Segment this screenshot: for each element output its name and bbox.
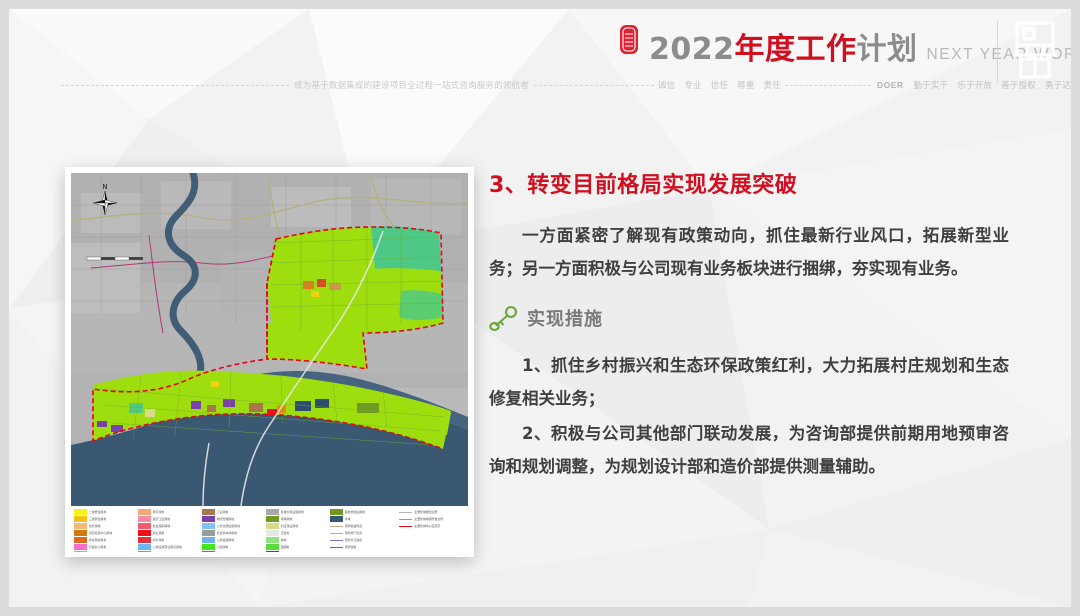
legend-swatch <box>202 516 215 521</box>
legend-swatch <box>202 551 215 552</box>
legend-swatch <box>74 530 87 535</box>
legend-label: 社会福利用地 <box>153 523 170 529</box>
legend-label: 现状铁路 <box>345 544 357 550</box>
legend-label: 主要新城规划边界 <box>414 509 437 515</box>
legend-label: 医疗卫生用地 <box>153 516 170 522</box>
measure-item: 2、积极与公司其他部门联动发展，为咨询部提供前期用地预审咨询和规划调整，为规划设… <box>489 417 1009 483</box>
legend-swatch <box>138 530 151 535</box>
value-item: 专业 <box>684 79 701 91</box>
legend-item: 苗圃地 <box>266 544 327 550</box>
legend-item: 社会福利用地 <box>138 523 199 529</box>
legend-label: 公用设施用地 <box>217 537 234 543</box>
legend-label: 现状燃气管道 <box>345 530 362 536</box>
legend-label: 幼托用地 <box>89 523 101 529</box>
legend-item: 主要新城规划边界 <box>399 509 466 515</box>
value-item: 信任 <box>711 79 728 91</box>
legend-swatch <box>266 516 279 521</box>
legend-swatch <box>138 551 151 552</box>
legend-item: 特殊用地 <box>266 516 327 522</box>
legend-swatch <box>74 509 87 514</box>
map-legend: 二类居住用地三类居住用地幼托用地基层社区中心用地商住混合用地行政办公用地文化设施… <box>71 506 468 552</box>
red-seal-stamp-icon <box>617 23 641 57</box>
legend-column: 工业用地物流仓储用地公共交通设施用地社会停车场用地公用设施用地公园绿地防护绿地 <box>202 509 263 552</box>
legend-label: 商务用地 <box>153 537 165 543</box>
legend-swatch <box>138 509 151 514</box>
content-column: 3、转变目前格局实现发展突破 一方面紧密了解现有政策动向，抓住最新行业风口，拓展… <box>489 169 1009 483</box>
legend-swatch <box>330 533 343 534</box>
legend-item: 基层社区中心用地 <box>74 530 135 536</box>
value-item: 诚信 <box>658 79 675 91</box>
legend-column: 其他非建设用地水域现状输油管道现状燃气管道现状长江堤坝现状铁路现状道路 <box>330 509 397 552</box>
legend-item: 物流仓储用地 <box>202 516 263 522</box>
doer-value-item: 乐于开放 <box>957 79 992 91</box>
measures-header: 实现措施 <box>489 305 1009 331</box>
legend-label: 工业用地 <box>217 509 229 515</box>
doer-label: DOER <box>871 80 910 90</box>
legend-label: 田野绿地 <box>281 551 293 552</box>
legend-swatch <box>399 526 412 527</box>
legend-item: 防护绿地 <box>202 551 263 552</box>
value-item: 尊重 <box>737 79 754 91</box>
legend-swatch <box>266 551 279 552</box>
dash-line-mid2 <box>785 85 871 86</box>
legend-item: 文化设施用地 <box>74 551 135 552</box>
section-heading: 3、转变目前格局实现发展突破 <box>489 169 1009 203</box>
legend-swatch <box>330 516 343 521</box>
legend-swatch <box>74 551 87 552</box>
legend-item: 区域交通设施用地 <box>266 509 327 515</box>
legend-label: 特殊用地 <box>281 516 293 522</box>
legend-swatch <box>202 530 215 535</box>
legend-swatch <box>202 523 215 528</box>
legend-item: 水域 <box>330 516 397 522</box>
doer-values-list: 勤于实干 乐于开放 善于授权 勇于达成 <box>910 79 1072 91</box>
legend-item: 主要新城中心区范围 <box>399 523 466 529</box>
legend-item: 主要新城城镇开发边界 <box>399 516 466 522</box>
legend-item: 村庄建设用地 <box>266 523 327 529</box>
legend-swatch <box>399 519 412 520</box>
value-item: 责任 <box>764 79 781 91</box>
legend-label: 公园绿地 <box>217 544 229 550</box>
legend-label: 现状道路 <box>345 551 357 552</box>
legend-item: 教育用地 <box>138 509 199 515</box>
legend-label: 社会停车场用地 <box>217 530 237 536</box>
legend-swatch <box>266 509 279 514</box>
legend-label: 其他非建设用地 <box>345 509 365 515</box>
header-title-block: 2022年度工作计划 NEXT YEAR WORK PLAN <box>649 24 1071 68</box>
legend-item: 工业用地 <box>202 509 263 515</box>
legend-item: 公共交通设施用地 <box>202 523 263 529</box>
legend-item: 其他非建设用地 <box>330 509 397 515</box>
legend-item: 空置地 <box>266 530 327 536</box>
map-graphic: N <box>71 173 468 506</box>
legend-item: 现状燃气管道 <box>330 530 397 536</box>
legend-item: 医疗卫生用地 <box>138 516 199 522</box>
header-subtitle-row: 成为基于数据集成的建设项目全过程一站式咨询服务的领航者 诚信 专业 信任 尊重 … <box>9 75 1071 95</box>
slide-canvas: 2022年度工作计划 NEXT YEAR WORK PLAN 成为基于数据集成的… <box>9 9 1071 607</box>
legend-label: 主要新城中心区范围 <box>414 523 440 529</box>
legend-item: 商务用地 <box>138 537 199 543</box>
legend-swatch <box>138 516 151 521</box>
legend-label: 教育用地 <box>153 509 165 515</box>
legend-item: 公园绿地 <box>202 544 263 550</box>
legend-item: 现状输油管道 <box>330 523 397 529</box>
dingzheng-logo-icon <box>1009 19 1061 81</box>
legend-column: 教育用地医疗卫生用地社会福利用地商业用地商务用地公用设施营业网点用地其他服务设施… <box>138 509 199 552</box>
legend-item: 林地 <box>266 537 327 543</box>
legend-label: 行政办公用地 <box>89 544 106 550</box>
legend-swatch <box>74 544 87 549</box>
body-paragraph: 一方面紧密了解现有政策动向，抓住最新行业风口，拓展新型业务；另一方面积极与公司现… <box>489 219 1009 285</box>
legend-item: 其他服务设施用地 <box>138 551 199 552</box>
legend-item: 现状长江堤坝 <box>330 537 397 543</box>
legend-label: 防护绿地 <box>217 551 229 552</box>
measures-label: 实现措施 <box>527 305 603 331</box>
legend-item: 商业用地 <box>138 530 199 536</box>
title-cn-primary: 年度工作 <box>735 32 857 67</box>
legend-swatch <box>202 509 215 514</box>
legend-item: 公用设施用地 <box>202 537 263 543</box>
doer-value-item: 勇于达成 <box>1045 79 1071 91</box>
legend-item: 二类居住用地 <box>74 509 135 515</box>
legend-swatch <box>138 537 151 542</box>
legend-item: 三类居住用地 <box>74 516 135 522</box>
map-card: N <box>65 167 474 557</box>
legend-item: 现状道路 <box>330 551 397 552</box>
doer-value-item: 善于授权 <box>1001 79 1036 91</box>
legend-label: 区域交通设施用地 <box>281 509 304 515</box>
legend-label: 村庄建设用地 <box>281 523 298 529</box>
legend-label: 物流仓储用地 <box>217 516 234 522</box>
land-use-planning-map: N <box>71 173 468 506</box>
slide-header: 2022年度工作计划 NEXT YEAR WORK PLAN 成为基于数据集成的… <box>9 9 1071 97</box>
key-icon <box>489 305 519 331</box>
company-slogan: 成为基于数据集成的建设项目全过程一站式咨询服务的领航者 <box>289 79 534 91</box>
legend-swatch <box>74 516 87 521</box>
legend-item: 商住混合用地 <box>74 537 135 543</box>
legend-item: 田野绿地 <box>266 551 327 552</box>
legend-label: 现状输油管道 <box>345 523 362 529</box>
legend-swatch <box>138 544 151 549</box>
doer-value-item: 勤于实干 <box>914 79 949 91</box>
legend-swatch <box>202 544 215 549</box>
legend-item: 社会停车场用地 <box>202 530 263 536</box>
legend-label: 商业用地 <box>153 530 165 536</box>
measures-list: 1、抓住乡村振兴和生态环保政策红利，大力拓展村庄规划和生态修复相关业务； 2、积… <box>489 349 1009 483</box>
measure-item: 1、抓住乡村振兴和生态环保政策红利，大力拓展村庄规划和生态修复相关业务； <box>489 349 1009 415</box>
svg-text:N: N <box>102 183 107 191</box>
title-cn-secondary: 计划 <box>857 32 918 67</box>
dash-line-left <box>61 85 289 86</box>
dash-line-mid1 <box>534 85 654 86</box>
legend-swatch <box>74 537 87 542</box>
legend-swatch <box>202 537 215 542</box>
legend-item: 公用设施营业网点用地 <box>138 544 199 550</box>
legend-swatch <box>330 509 343 514</box>
legend-label: 现状长江堤坝 <box>345 537 362 543</box>
legend-swatch <box>399 512 412 513</box>
legend-swatch <box>330 547 343 548</box>
legend-column: 区域交通设施用地特殊用地村庄建设用地空置地林地苗圃地田野绿地 <box>266 509 327 552</box>
legend-swatch <box>138 523 151 528</box>
legend-column: 主要新城规划边界主要新城城镇开发边界主要新城中心区范围 <box>399 509 466 552</box>
legend-label: 林地 <box>281 537 287 543</box>
legend-item: 行政办公用地 <box>74 544 135 550</box>
legend-swatch <box>266 523 279 528</box>
legend-label: 主要新城城镇开发边界 <box>414 516 443 522</box>
legend-swatch <box>266 537 279 542</box>
legend-item: 幼托用地 <box>74 523 135 529</box>
legend-swatch <box>330 526 343 527</box>
legend-label: 空置地 <box>281 530 290 536</box>
legend-label: 公共交通设施用地 <box>217 523 240 529</box>
legend-item: 现状铁路 <box>330 544 397 550</box>
legend-label: 二类居住用地 <box>89 509 106 515</box>
page-title: 2022年度工作计划 <box>649 24 918 68</box>
title-year: 2022 <box>649 32 735 67</box>
legend-swatch <box>74 523 87 528</box>
legend-swatch <box>266 544 279 549</box>
legend-label: 文化设施用地 <box>89 551 106 552</box>
legend-label: 商住混合用地 <box>89 537 106 543</box>
legend-swatch <box>266 530 279 535</box>
core-values-list: 诚信 专业 信任 尊重 责任 <box>654 79 785 91</box>
legend-label: 水域 <box>345 516 351 522</box>
legend-label: 其他服务设施用地 <box>153 551 176 552</box>
legend-label: 三类居住用地 <box>89 516 106 522</box>
legend-column: 二类居住用地三类居住用地幼托用地基层社区中心用地商住混合用地行政办公用地文化设施… <box>74 509 135 552</box>
legend-label: 基层社区中心用地 <box>89 530 112 536</box>
legend-label: 公用设施营业网点用地 <box>153 544 182 550</box>
legend-label: 苗圃地 <box>281 544 290 550</box>
legend-swatch <box>330 540 343 541</box>
header-divider <box>997 21 998 83</box>
